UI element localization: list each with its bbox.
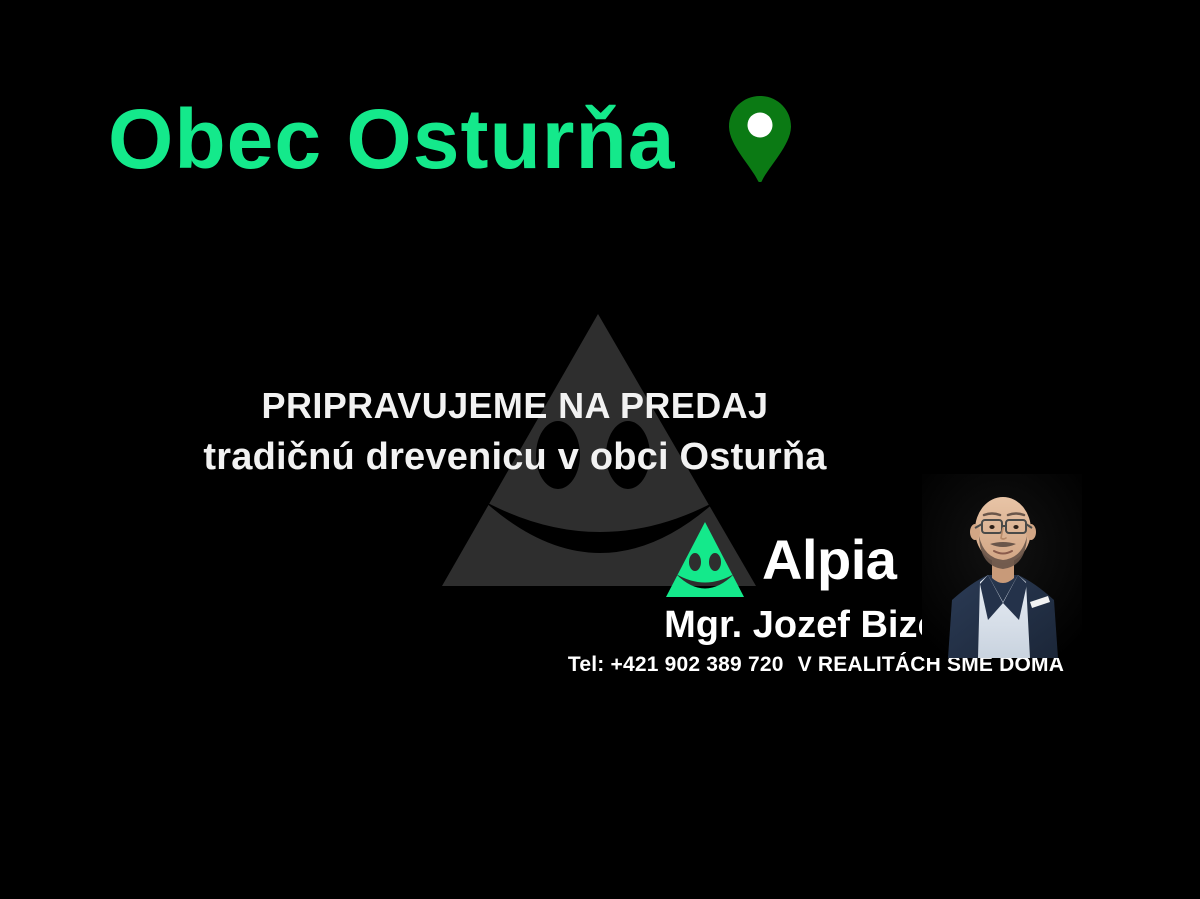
- poster-canvas: Obec Osturňa PRIPRAVUJEME NA PREDAJ trad…: [0, 0, 1200, 899]
- page-title: Obec Osturňa: [108, 97, 675, 181]
- announcement-block: PRIPRAVUJEME NA PREDAJ tradičnú drevenic…: [0, 386, 1030, 480]
- agent-phone[interactable]: Tel: +421 902 389 720: [568, 653, 784, 677]
- alpia-logo-icon: [664, 520, 746, 600]
- agent-portrait: [922, 474, 1082, 658]
- announcement-line-2: tradičnú drevenicu v obci Osturňa: [0, 436, 1030, 480]
- village-title-row: Obec Osturňa: [108, 96, 791, 182]
- map-pin-icon: [729, 96, 791, 182]
- brand-name: Alpia: [762, 532, 896, 588]
- announcement-line-1: PRIPRAVUJEME NA PREDAJ: [0, 386, 1030, 426]
